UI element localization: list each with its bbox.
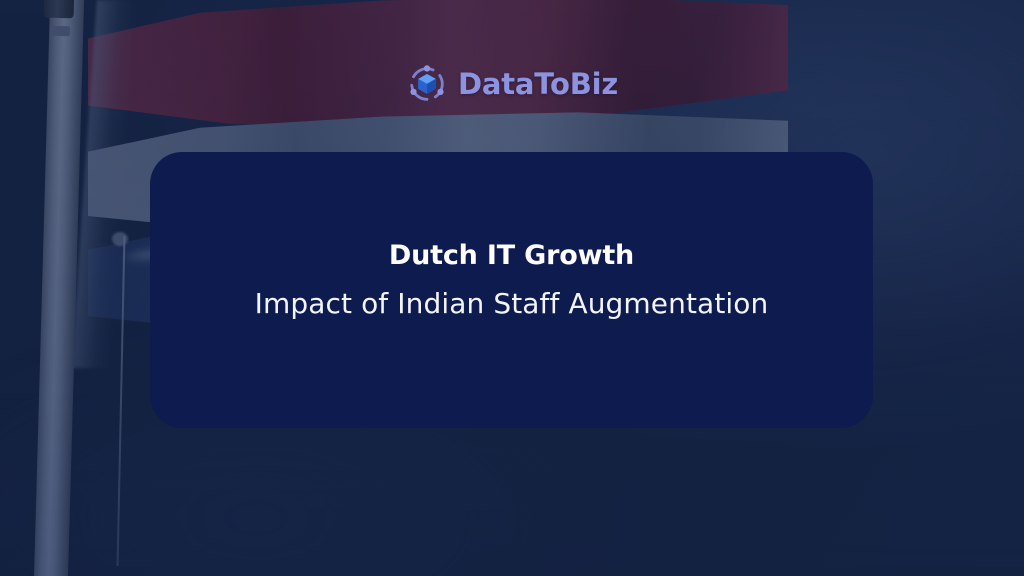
cube-orbit-icon xyxy=(406,63,448,105)
card-title: Dutch IT Growth xyxy=(150,240,873,272)
brand-logo: DataToBiz xyxy=(0,63,1024,105)
content-card: Dutch IT Growth Impact of Indian Staff A… xyxy=(150,152,873,428)
card-text-block: Dutch IT Growth Impact of Indian Staff A… xyxy=(150,152,873,321)
brand-name: DataToBiz xyxy=(458,70,618,99)
cube-glyph xyxy=(418,74,436,94)
card-subtitle: Impact of Indian Staff Augmentation xyxy=(150,286,873,321)
thumbnail-canvas: DataToBiz Dutch IT Growth Impact of Indi… xyxy=(0,0,1024,576)
